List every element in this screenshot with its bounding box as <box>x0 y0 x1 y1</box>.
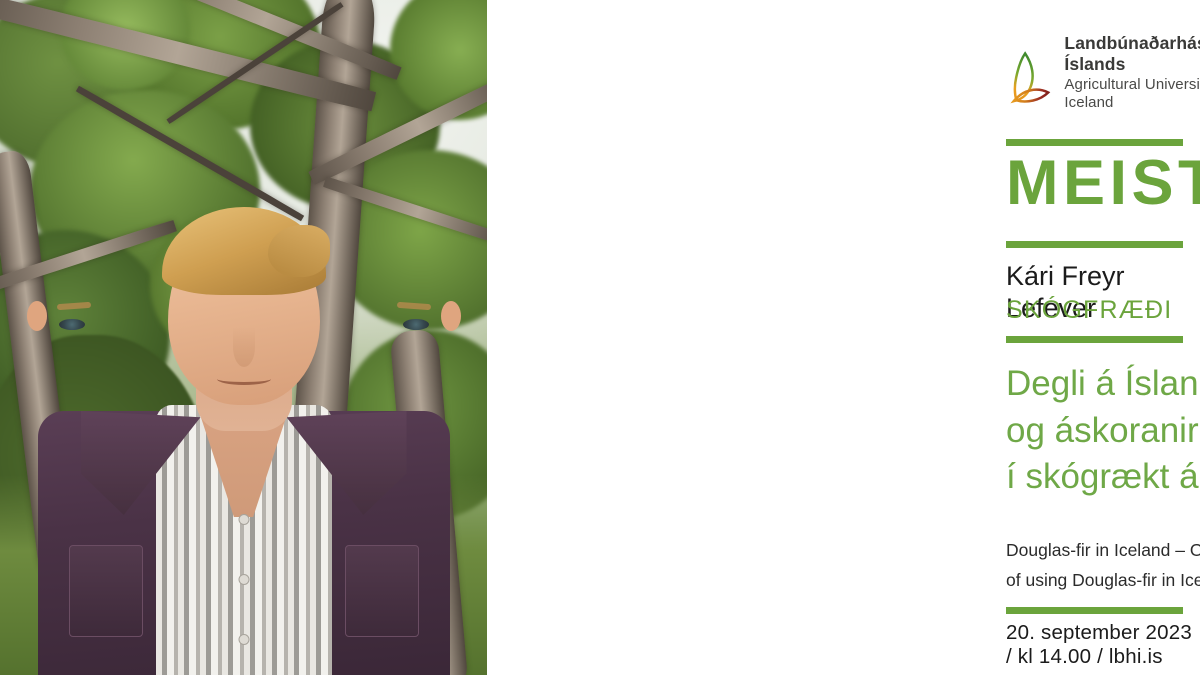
event-details-footer: 20. september 2023 / kl 14.00 / lbhi.is <box>1006 621 1200 669</box>
university-name-is: Landbúnaðarháskóli Íslands <box>1064 33 1200 76</box>
shirt-button <box>239 515 248 524</box>
thesis-title-line: og áskoranir við ræktun deglis <box>1006 408 1200 455</box>
info-panel: Landbúnaðarháskóli Íslands Agricultural … <box>487 0 1200 675</box>
divider-under-department <box>1006 336 1183 343</box>
department-label: SKÓGFRÆÐI <box>1006 296 1172 326</box>
thesis-title-line: Degli á Íslandi - Möguleikar <box>1006 361 1200 408</box>
shirt-button <box>239 635 248 644</box>
eye-right <box>403 319 429 330</box>
thesis-title: Degli á Íslandi - Möguleikar og áskorani… <box>1006 361 1200 501</box>
university-logo: Landbúnaðarháskóli Íslands Agricultural … <box>1006 33 1200 116</box>
thesis-subtitle-line: of using Douglas-fir in Icelandic forest… <box>1006 565 1200 595</box>
divider-footer <box>1006 607 1183 614</box>
hair <box>162 207 326 295</box>
divider-under-headline <box>1006 241 1183 248</box>
person-figure <box>29 215 459 675</box>
nose <box>233 327 255 367</box>
leaf-logo-icon <box>1006 44 1054 116</box>
thesis-subtitle-line: Douglas-fir in Iceland – Opportunities a… <box>1006 535 1200 565</box>
event-poster: Landbúnaðarháskóli Íslands Agricultural … <box>0 0 1200 675</box>
jacket-pocket-right <box>345 545 419 637</box>
headline: MEISTARAVÖRN <box>1006 152 1200 215</box>
ear-right <box>441 301 461 331</box>
shirt-button <box>239 575 248 584</box>
eyebrow-right <box>396 302 430 310</box>
mouth <box>217 373 271 385</box>
thesis-subtitle-english: Douglas-fir in Iceland – Opportunities a… <box>1006 535 1200 595</box>
divider-top <box>1006 139 1183 146</box>
eye-left <box>59 319 85 330</box>
ear-left <box>27 301 47 331</box>
thesis-title-line: í skógrækt á Íslandi <box>1006 454 1200 501</box>
jacket-pocket-left <box>69 545 143 637</box>
eyebrow-left <box>56 302 90 310</box>
speaker-portrait-photo <box>0 0 487 675</box>
university-name-en: Agricultural University of Iceland <box>1064 76 1200 113</box>
